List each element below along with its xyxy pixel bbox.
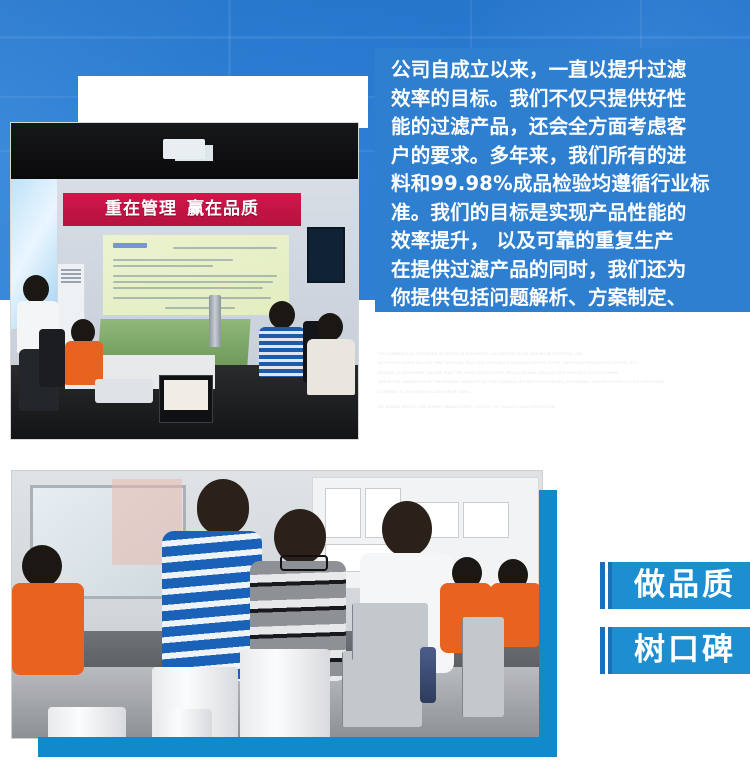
notice-sheet <box>463 502 509 538</box>
eyeglasses-icon <box>280 555 328 571</box>
slide-line <box>165 307 235 309</box>
english-line-1: THE COMPANY HAS ADVANCED PRODUCTION EQUI… <box>378 352 738 357</box>
english-closing-line: WE ALWAYS UPHOLD THE MARKET MANAGEMENT C… <box>378 405 738 410</box>
slogan-tick-1 <box>600 562 605 609</box>
notice-sheet <box>325 488 361 538</box>
english-line-5: CONTINUE TO BE SATISFIED AND STRIVE HARD… <box>378 390 738 395</box>
accent-bar-vertical <box>539 490 557 757</box>
projection-screen <box>103 235 289 315</box>
office-chair <box>39 329 65 387</box>
banner-text-right: 赢在品质 <box>187 201 259 218</box>
person-head <box>23 275 49 303</box>
person-head <box>317 313 343 341</box>
filter-cartridge <box>342 651 422 727</box>
drink-bottle <box>420 647 436 703</box>
slogan-tick-1 <box>600 627 605 674</box>
slide-line <box>113 275 277 277</box>
english-line-4: UNDER THE LEADERSHIP OF THE GENERAL MANA… <box>378 380 738 385</box>
english-line-3: DOZENS OF EQUIPMENT, ENSURE THAT THE MOS… <box>378 371 738 376</box>
person-head <box>197 479 249 535</box>
company-intro-text: 公司自成立以来，一直以提升过滤 效率的目标。我们不仅只提供好性 能的过滤产品，还… <box>391 56 744 341</box>
person-head <box>382 501 432 557</box>
slogan-box-quality: 做品质 <box>600 562 750 609</box>
thermos-bottle <box>209 295 221 347</box>
english-note-block: THE COMPANY HAS ADVANCED PRODUCTION EQUI… <box>378 352 738 414</box>
white-card-top <box>78 76 368 128</box>
white-filter-tube <box>48 707 126 739</box>
filter-cartridge <box>462 617 504 717</box>
ceiling-light-icon <box>163 139 205 159</box>
slide-line <box>113 259 233 261</box>
person-head <box>269 301 295 329</box>
person-body <box>259 327 305 377</box>
wall-picture-frame <box>307 227 345 283</box>
bg-beam-horizontal-1 <box>0 36 750 39</box>
slogan-box-reputation: 树口碑 <box>600 627 750 674</box>
slide-line <box>113 287 263 289</box>
slide-line <box>113 265 213 267</box>
accent-bar-bottom <box>38 737 555 757</box>
slogan-label: 做品质 <box>634 570 736 601</box>
filter-cartridge <box>352 603 428 661</box>
slogan-label: 树口碑 <box>634 635 736 666</box>
promo-page: 重在管理 赢在品质 <box>0 0 750 766</box>
meeting-room-photo: 重在管理 赢在品质 <box>10 122 359 440</box>
projector-device <box>95 379 153 403</box>
meeting-red-banner: 重在管理 赢在品质 <box>63 193 301 226</box>
slogan-box-body: 做品质 <box>612 562 750 609</box>
slogan-box-body: 树口碑 <box>612 627 750 674</box>
slide-line <box>113 281 273 283</box>
laptop-device <box>159 375 213 423</box>
banner-text-left: 重在管理 <box>105 201 177 218</box>
slide-logo <box>113 243 147 248</box>
company-intro-panel: 公司自成立以来，一直以提升过滤 效率的目标。我们不仅只提供好性 能的过滤产品，还… <box>375 48 750 312</box>
english-line-2: AUTOMATIC FILTER BAG HOT MELT MACHINE, B… <box>378 361 738 366</box>
workshop-photo <box>11 470 543 739</box>
slide-line <box>113 297 271 299</box>
person-head <box>22 545 62 587</box>
white-filter-tube <box>156 709 212 739</box>
slide-line <box>173 247 277 249</box>
person-body <box>307 339 355 395</box>
person-body <box>12 583 84 675</box>
white-filter-tube <box>240 649 330 739</box>
